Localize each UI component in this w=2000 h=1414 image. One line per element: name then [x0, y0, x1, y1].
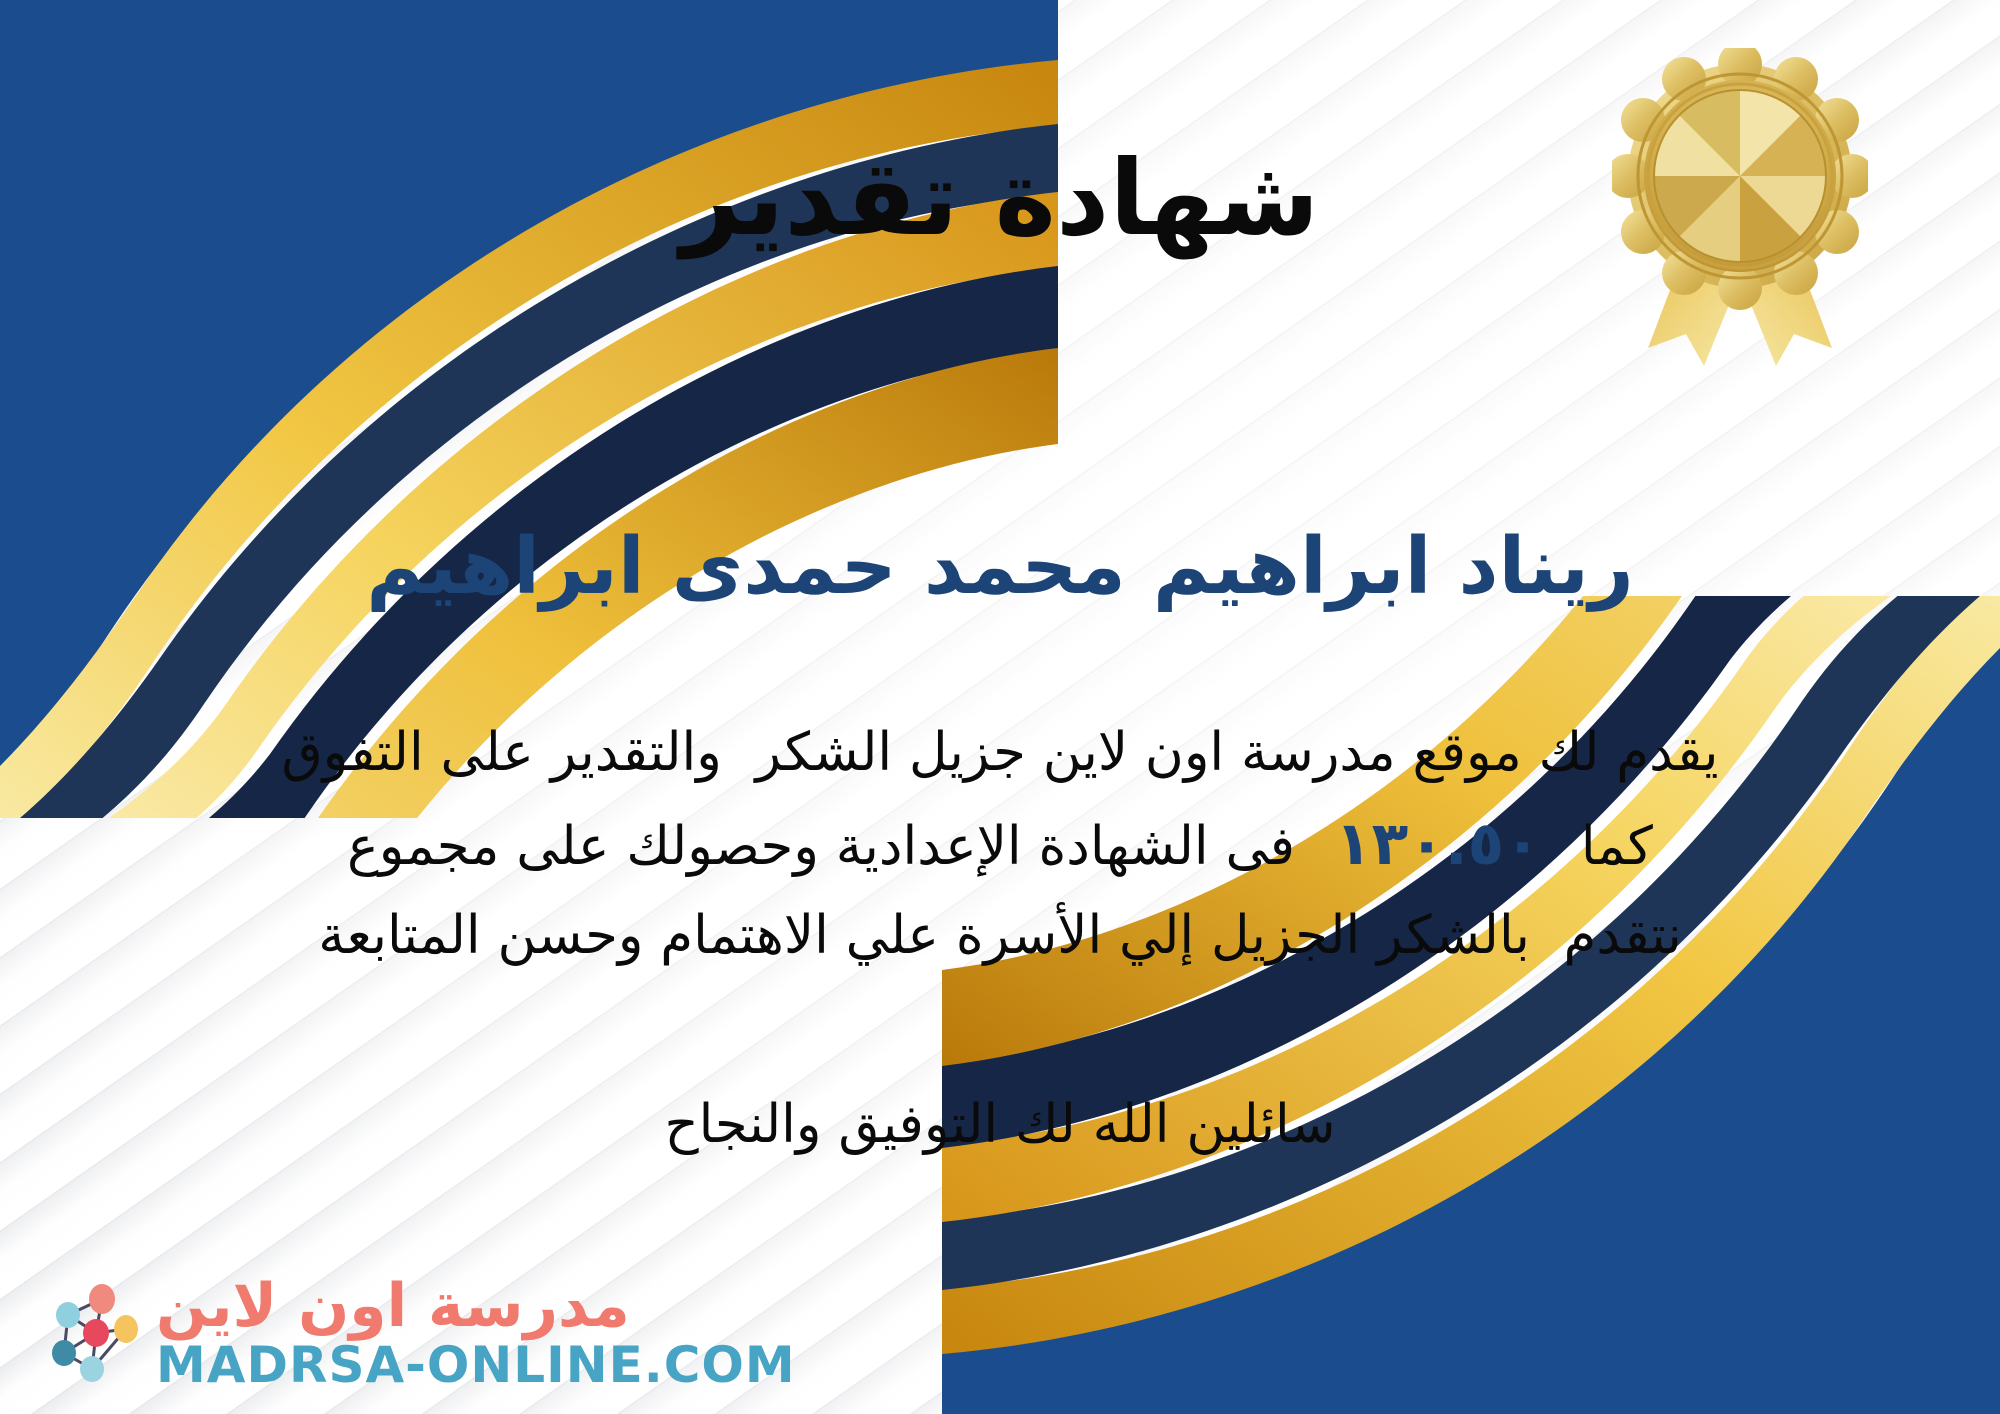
page-title: شهادة تقدير [0, 140, 2000, 256]
recipient-name: ريناد ابراهيم محمد حمدى ابراهيم [0, 521, 2000, 615]
certificate-body: يقدم لك موقع مدرسة اون لاين جزيل الشكر و… [228, 710, 1772, 979]
body-line-3: نتقدم بالشكر الجزيل إلي الأسرة علي الاهت… [228, 893, 1772, 979]
certificate-content: شهادة تقدير ريناد ابراهيم محمد حمدى ابرا… [0, 0, 2000, 1414]
total-score-value: ١٣٠.٥٠ [1301, 796, 1575, 893]
network-nodes-icon [34, 1279, 142, 1387]
brand-name-arabic: مدرسة اون لاين [156, 1276, 630, 1336]
closing-wish-line: سائلين الله لك التوفيق والنجاح [0, 1085, 2000, 1165]
body-line-2-after-score: كما [1581, 804, 1653, 890]
body-line-2: كما ١٣٠.٥٠ فى الشهادة الإعدادية وحصولك ع… [228, 796, 1772, 893]
certificate-canvas: شهادة تقدير ريناد ابراهيم محمد حمدى ابرا… [0, 0, 2000, 1414]
body-line-1: يقدم لك موقع مدرسة اون لاين جزيل الشكر و… [228, 710, 1772, 796]
brand-website-url: MADRSA-ONLINE.COM [156, 1340, 796, 1390]
body-line-2-before-score: فى الشهادة الإعدادية وحصولك على مجموع [347, 804, 1295, 890]
brand-logo[interactable]: مدرسة اون لاين MADRSA-ONLINE.COM [34, 1276, 796, 1390]
brand-text: مدرسة اون لاين MADRSA-ONLINE.COM [156, 1276, 796, 1390]
